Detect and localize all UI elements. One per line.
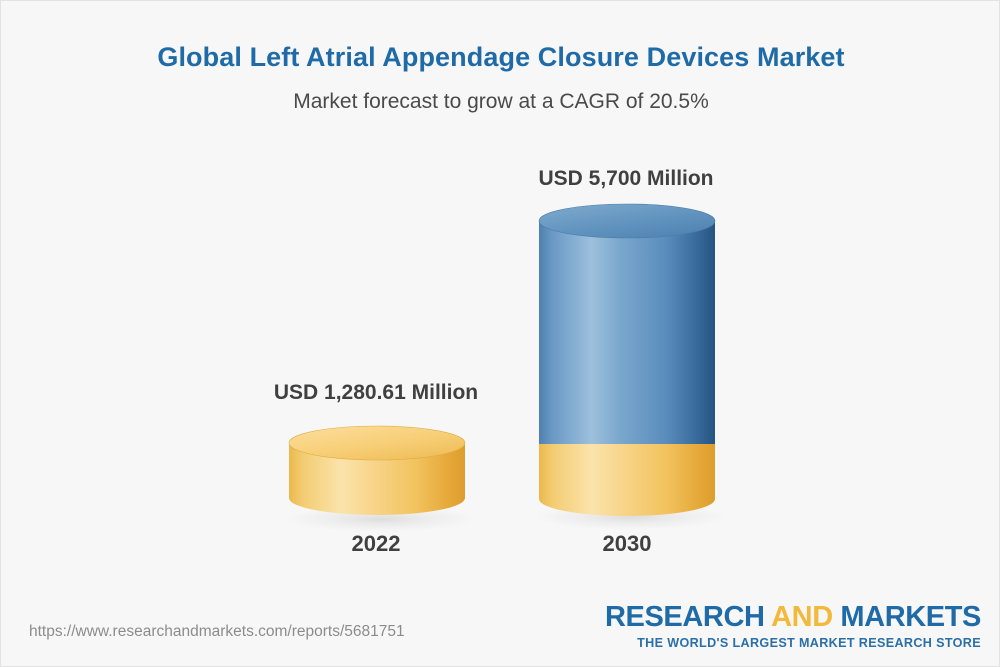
value-label-2030: USD 5,700 Million: [426, 167, 826, 190]
value-label-2022: USD 1,280.61 Million: [176, 381, 576, 404]
logo-tagline: THE WORLD'S LARGEST MARKET RESEARCH STOR…: [605, 637, 981, 650]
bar-cylinder-2030[interactable]: [531, 191, 723, 531]
researchandmarkets-logo[interactable]: RESEARCH AND MARKETS THE WORLD'S LARGEST…: [605, 603, 981, 650]
bar-2022-svg: [281, 413, 473, 533]
logo-word-and: AND: [765, 601, 841, 633]
category-label-2030: 2030: [427, 532, 827, 556]
logo-word-research: RESEARCH: [605, 601, 765, 633]
infographic-canvas: Global Left Atrial Appendage Closure Dev…: [0, 0, 1000, 667]
chart-plot-area: USD 5,700 Million USD 1,280.61 Million: [1, 1, 1000, 601]
report-url[interactable]: https://www.researchandmarkets.com/repor…: [29, 623, 405, 641]
bar-2030-svg: [531, 191, 723, 531]
logo-word-markets: MARKETS: [840, 601, 981, 633]
logo-wordmark: RESEARCH AND MARKETS: [605, 603, 981, 632]
bar-cylinder-2022[interactable]: [281, 413, 473, 533]
